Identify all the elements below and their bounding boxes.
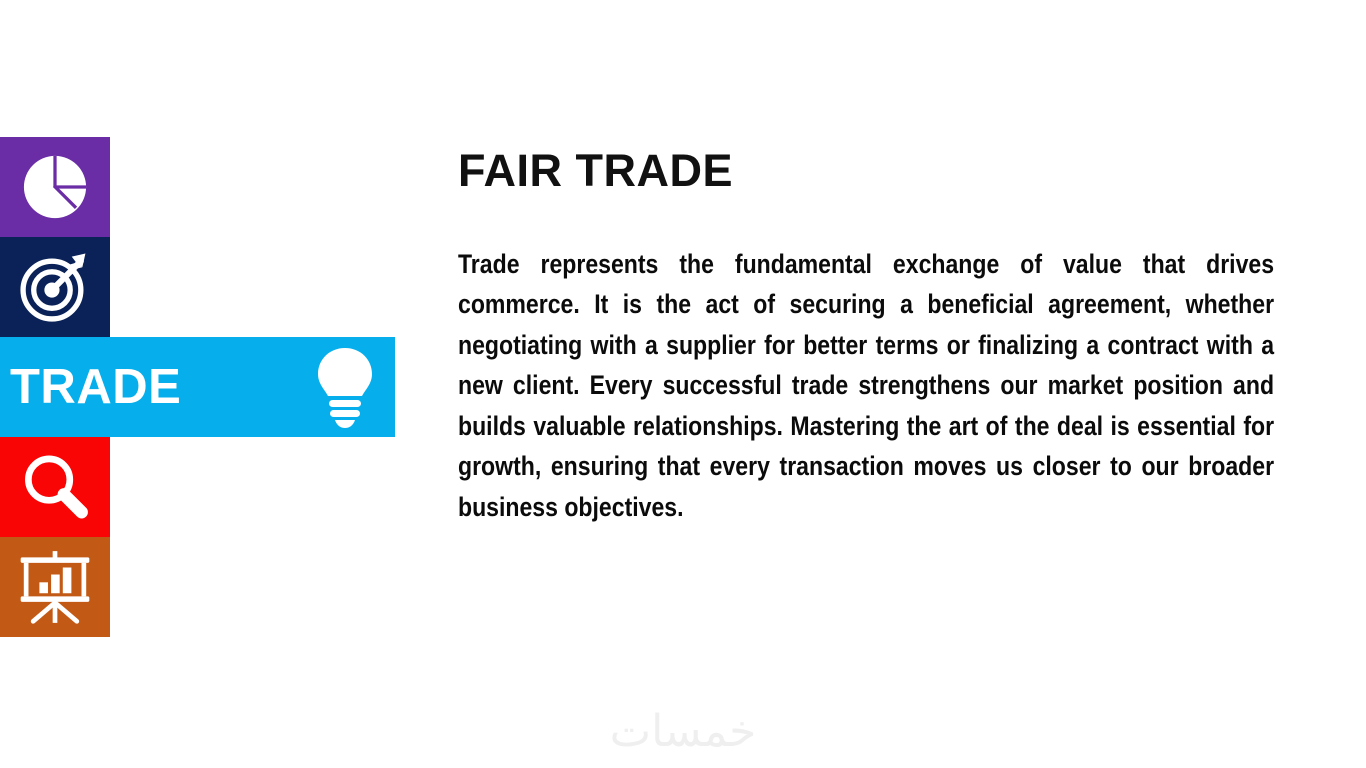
page-title: FAIR TRADE [458,146,1274,196]
slide-canvas: TRADE FAIR TRADE Trade represents the fu… [0,0,1366,768]
body-paragraph: Trade represents the fundamental exchang… [458,244,1274,528]
trade-banner-label: TRADE [10,363,181,412]
target-arrow-icon [17,249,93,325]
magnifier-icon [18,450,92,524]
content-column: FAIR TRADE Trade represents the fundamen… [458,146,1274,528]
tile-pie-chart[interactable] [0,137,110,237]
tile-search[interactable] [0,437,110,537]
trade-banner[interactable]: TRADE [0,337,395,437]
tile-presentation[interactable] [0,537,110,637]
presentation-chart-icon [16,548,94,626]
pie-chart-icon [18,150,92,224]
watermark: خمسات [0,706,1366,757]
lightbulb-icon [310,344,380,430]
tile-target[interactable] [0,237,110,337]
